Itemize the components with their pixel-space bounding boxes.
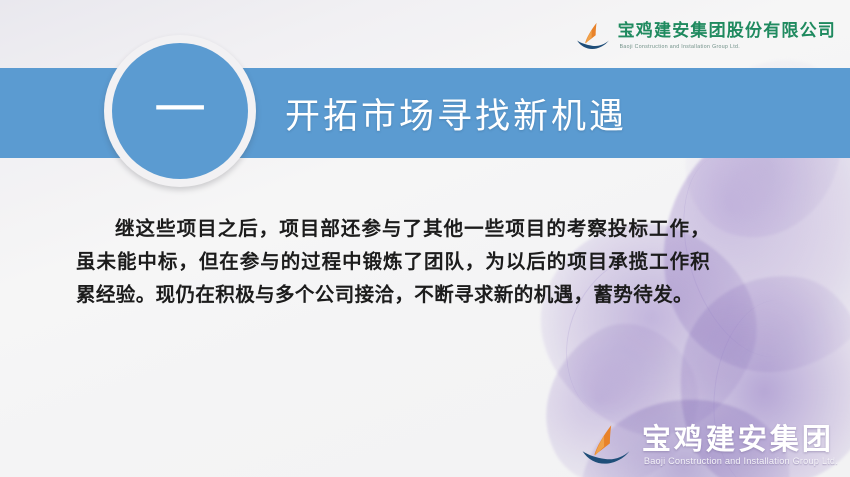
sail-flame-logo-icon bbox=[575, 22, 611, 52]
slide-body-text: 继这些项目之后，项目部还参与了其他一些项目的考察投标工作，虽未能中标，但在参与的… bbox=[76, 212, 710, 311]
footer-company-logo: 宝鸡建安集团 Baoji Construction and Installati… bbox=[580, 423, 838, 469]
badge-fill: 一 bbox=[112, 43, 248, 179]
sail-flame-logo-icon bbox=[580, 423, 632, 469]
header-company-name-cn: 宝鸡建安集团股份有限公司 bbox=[618, 22, 836, 42]
footer-company-name-en: Baoji Construction and Installation Grou… bbox=[644, 456, 838, 468]
section-number-label: 一 bbox=[154, 85, 206, 137]
header-logo-text: 宝鸡建安集团股份有限公司 Baoji Construction and Inst… bbox=[618, 22, 836, 51]
presentation-slide: 一 开拓市场寻找新机遇 继这些项目之后，项目部还参与了其他一些项目的考察投标工作… bbox=[0, 0, 850, 477]
slide-title: 开拓市场寻找新机遇 bbox=[285, 88, 627, 139]
footer-company-name-cn: 宝鸡建安集团 bbox=[642, 424, 838, 456]
header-company-name-en: Baoji Construction and Installation Grou… bbox=[620, 44, 836, 52]
footer-logo-text: 宝鸡建安集团 Baoji Construction and Installati… bbox=[642, 424, 838, 469]
section-number-badge: 一 bbox=[104, 35, 256, 187]
header-company-logo: 宝鸡建安集团股份有限公司 Baoji Construction and Inst… bbox=[575, 22, 836, 52]
